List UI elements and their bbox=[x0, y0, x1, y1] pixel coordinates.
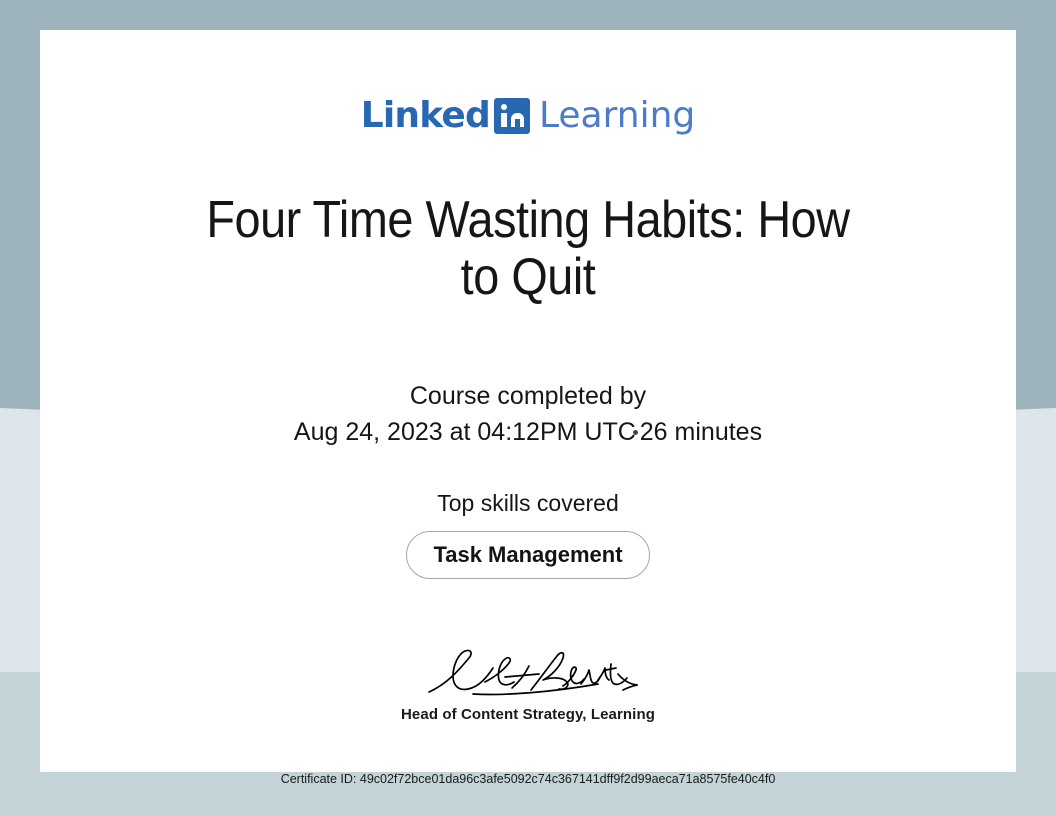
signature-block: Head of Content Strategy, Learning bbox=[40, 642, 1016, 723]
course-title: Four Time Wasting Habits: How to Quit bbox=[188, 192, 868, 306]
in-icon-notch bbox=[515, 119, 520, 127]
skill-pill: Task Management bbox=[406, 531, 649, 579]
signatory-title: Head of Content Strategy, Learning bbox=[40, 706, 1016, 723]
certificate-card: Linked Learning Four Time Wasting Habits… bbox=[40, 30, 1016, 772]
linkedin-wordmark-text: Linked bbox=[361, 98, 490, 134]
skills-list: Task Management bbox=[40, 531, 1016, 579]
linkedin-in-icon bbox=[494, 98, 530, 134]
completion-block: Course completed by Aug 24, 2023 at 04:1… bbox=[40, 378, 1016, 451]
separator-dot-icon bbox=[633, 430, 638, 435]
top-skills-section: Top skills covered Task Management bbox=[40, 490, 1016, 579]
learning-wordmark-text: Learning bbox=[539, 98, 695, 134]
in-icon-stem bbox=[501, 113, 507, 127]
handwritten-signature-icon bbox=[413, 644, 643, 702]
certificate-id: Certificate ID: 49c02f72bce01da96c3afe50… bbox=[40, 772, 1016, 786]
course-completed-label: Course completed by bbox=[40, 378, 1016, 414]
completion-duration: 26 minutes bbox=[640, 418, 762, 446]
in-icon-dot bbox=[501, 104, 507, 110]
completion-details: Aug 24, 2023 at 04:12PM UTC26 minutes bbox=[40, 414, 1016, 450]
linkedin-learning-logo: Linked Learning bbox=[40, 92, 1016, 140]
top-skills-heading: Top skills covered bbox=[40, 490, 1016, 517]
completion-datetime: Aug 24, 2023 at 04:12PM UTC bbox=[294, 418, 636, 446]
signature-image bbox=[40, 642, 1016, 702]
